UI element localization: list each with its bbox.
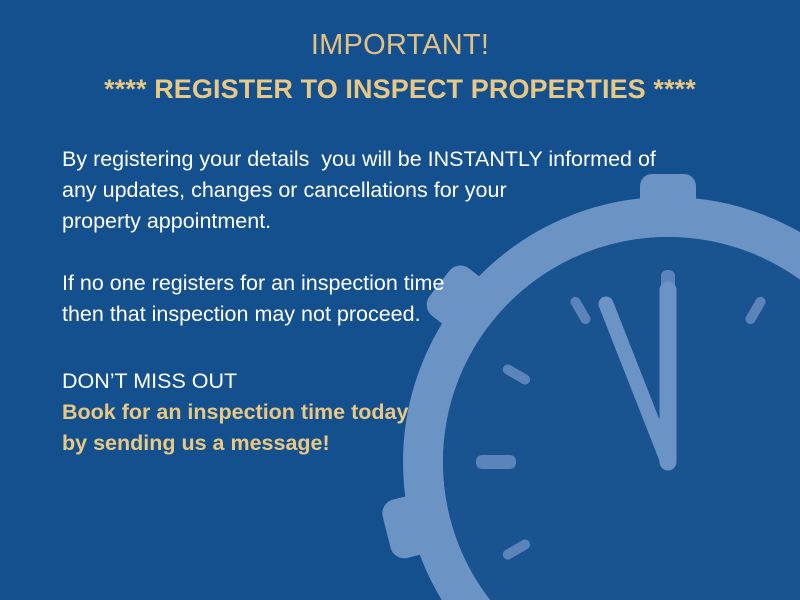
heading-important: IMPORTANT! bbox=[0, 28, 800, 63]
slide-canvas: IMPORTANT! **** REGISTER TO INSPECT PROP… bbox=[0, 0, 800, 600]
cta-book-inspection: Book for an inspection time today bbox=[62, 397, 602, 428]
heading-register-to-inspect: **** REGISTER TO INSPECT PROPERTIES **** bbox=[0, 73, 800, 106]
call-to-action-block: DON’T MISS OUT Book for an inspection ti… bbox=[62, 366, 602, 459]
heading-block: IMPORTANT! **** REGISTER TO INSPECT PROP… bbox=[0, 28, 800, 106]
body-copy-block: By registering your details you will be … bbox=[62, 144, 722, 330]
paragraph-registering-details: By registering your details you will be … bbox=[62, 144, 722, 237]
cta-dont-miss-out: DON’T MISS OUT bbox=[62, 366, 602, 397]
paragraph-no-one-registers: If no one registers for an inspection ti… bbox=[62, 268, 722, 330]
cta-send-message: by sending us a message! bbox=[62, 428, 602, 459]
